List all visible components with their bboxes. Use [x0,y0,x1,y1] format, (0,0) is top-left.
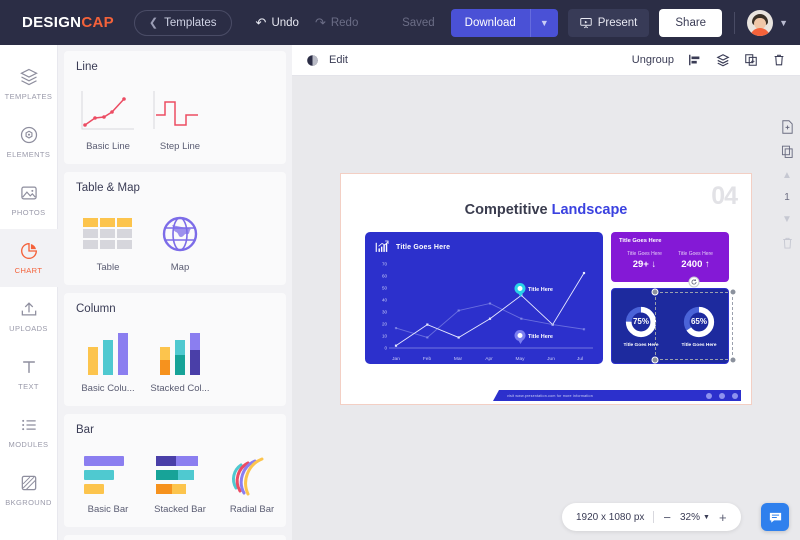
stat-number: 2400 [681,259,702,270]
chart-thumb-stacked-column[interactable]: Stacked Col... [148,325,212,394]
avatar [747,10,773,36]
slide-title: Competitive Landscape [341,202,751,218]
basic-line-art [76,83,140,135]
resize-handle-top-right[interactable] [730,289,737,296]
pin-dot [518,333,523,338]
stat-caption: Title Goes Here [670,251,721,257]
chart-thumb-caption: Map [148,262,212,273]
x-tick-label: Jun [547,357,555,362]
sidebar-item-label: CHART [15,266,43,275]
step-line-icon [150,85,210,135]
redo-button[interactable]: ↷ Redo [315,15,358,31]
stacked-column-art [148,325,212,377]
chart-pin-marker[interactable] [515,283,526,297]
stat-caption: Title Goes Here [619,251,670,257]
sidebar-item-templates[interactable]: TEMPLATES [0,55,58,113]
chart-thumb-map[interactable]: Map [148,204,212,273]
chart-thumb-caption: Basic Line [76,141,140,152]
logo-text-cap: CAP [81,14,114,31]
basic-bar-icon [80,448,136,498]
donut-chart: 75% [624,305,658,339]
chart-thumb-caption: Stacked Bar [148,504,212,515]
sidebar-item-label: UPLOADS [9,324,48,333]
trash-icon[interactable] [772,53,786,67]
donut-item: 75% Title Goes Here [623,305,658,348]
line-chart-plot: 70 60 50 40 30 20 10 0 [375,260,593,360]
y-tick-label: 20 [375,322,387,327]
chart-pin-label: Title Here [528,287,553,293]
donut-value: 65% [682,305,716,339]
stacked-bar-icon [152,448,208,498]
chart-thumb-caption: Radial Bar [220,504,284,515]
redo-icon: ↷ [315,15,326,31]
sidebar-item-elements[interactable]: ELEMENTS [0,113,58,171]
sidebar-item-label: PHOTOS [12,208,46,217]
zoom-level-select[interactable]: 32% ▼ [680,512,710,523]
zoom-out-button[interactable]: − [663,511,671,524]
sidebar-item-label: BKGROUND [5,498,52,507]
stacked-column-icon [152,327,208,377]
donut-caption: Title Goes Here [681,343,716,348]
chevron-left-icon: ❮ [149,16,158,29]
chart-thumb-table[interactable]: Table [76,204,140,273]
y-tick-label: 40 [375,298,387,303]
chevron-up-icon[interactable]: ▲ [782,170,792,181]
download-button[interactable]: Download [451,9,530,37]
chart-thumb-stacked-bar[interactable]: Stacked Bar [148,446,212,515]
canvas-toolbar-left: Edit [306,54,348,67]
undo-label: Undo [271,17,299,29]
undo-button[interactable]: ↶ Undo [256,15,299,31]
arrow-up-icon: ↑ [705,259,710,270]
app-logo[interactable]: DESIGNCAP [22,14,114,31]
panel-group-column: Column Basic Colu... [64,293,286,406]
chart-thumb-caption: Table [76,262,140,273]
saved-status: Saved [402,17,435,29]
stat-card[interactable]: Title Goes Here Title Goes Here 29+ ↓ Ti… [611,232,729,282]
present-label: Present [598,17,638,29]
stat-item: Title Goes Here 2400 ↑ [670,251,721,270]
sidebar-item-label: MODULES [9,440,49,449]
group-title: Line [76,61,274,73]
opacity-icon[interactable] [306,54,319,67]
chart-template-panel[interactable]: Line Basic Line [58,45,292,540]
stat-row: Title Goes Here 29+ ↓ Title Goes Here 24… [619,251,721,270]
table-icon [81,212,135,256]
step-line-art [148,83,212,135]
add-page-icon[interactable] [781,120,794,134]
sidebar-item-label: TEXT [18,382,39,391]
page-rail: ▲ 1 ▼ [774,120,800,250]
x-tick-label: Jan [392,357,400,362]
sidebar-item-text[interactable]: TEXT [0,345,58,403]
sidebar-item-chart[interactable]: CHART [0,229,58,287]
topbar-divider [734,12,735,34]
layers-icon [19,67,39,87]
y-tick-label: 50 [375,286,387,291]
chart-thumb-basic-column[interactable]: Basic Colu... [76,325,140,394]
bar-chart-up-icon [375,240,389,254]
sidebar-item-photos[interactable]: PHOTOS [0,171,58,229]
layers-icon[interactable] [716,53,730,67]
background-icon [19,473,39,493]
photo-icon [19,183,39,203]
avatar-face [754,18,766,29]
download-chevron-down-icon[interactable]: ▼ [530,9,558,37]
stat-value: 29+ ↓ [619,259,670,270]
donut-item: 65% Title Goes Here [681,305,716,348]
panel-group-pie: Pie [64,535,286,540]
x-tick-label: Apr [485,357,492,362]
x-tick-label: Mar [454,357,462,362]
gear-icon [19,125,39,145]
chart-thumb-radial-bar[interactable]: Radial Bar [220,446,284,515]
group-title: Bar [76,424,274,436]
chevron-down-icon[interactable]: ▼ [782,214,792,225]
delete-page-trash-icon[interactable] [781,236,794,250]
slide-footer-ribbon: visit www.presentation.com for more info… [493,390,741,401]
map-icon [158,212,202,256]
left-tool-rail: TEMPLATES ELEMENTS PHOTOS CHART [0,45,58,540]
panel-group-table-map: Table & Map Table [64,172,286,285]
donut-caption: Title Goes Here [623,343,658,348]
sidebar-item-label: TEMPLATES [5,92,53,101]
y-tick-label: 70 [375,262,387,267]
y-tick-label: 0 [375,346,387,351]
line-chart-svg [389,260,593,360]
avatar-body [750,28,770,36]
group-title: Column [76,303,274,315]
ungroup-button[interactable]: Ungroup [632,54,674,66]
chart-pin-label: Title Here [528,334,553,340]
zoombar-divider [653,511,654,523]
canvas-toolbar-right: Ungroup [632,53,786,67]
resize-handle-bottom-right[interactable] [730,357,737,364]
slide-title-main: Competitive [465,202,552,218]
line-chart-card[interactable]: Title Goes Here 70 60 50 40 30 20 10 0 [365,232,603,364]
panel-group-line: Line Basic Line [64,51,286,164]
templates-button[interactable]: ❮ Templates [134,10,232,36]
chevron-down-icon: ▼ [779,18,788,28]
stat-number: 29+ [633,259,649,270]
chart-thumb-basic-bar[interactable]: Basic Bar [76,446,140,515]
radial-bar-art [220,446,284,498]
basic-line-icon [78,85,138,135]
undo-icon: ↶ [256,15,267,31]
chart-thumb-caption: Basic Colu... [76,383,140,394]
stacked-bar-art [148,446,212,498]
line-chart-title: Title Goes Here [396,244,450,251]
zoom-level-value: 32% [680,512,700,523]
basic-column-art [76,325,140,377]
donut-card[interactable]: 75% Title Goes Here 65% Title Goes Here [611,288,729,364]
present-button[interactable]: Present [568,9,650,37]
chart-pin-marker[interactable] [515,330,526,344]
x-tick-label: May [515,357,524,362]
share-button[interactable]: Share [659,9,722,37]
edit-button[interactable]: Edit [329,54,348,66]
download-group: Download ▼ [451,9,558,37]
stat-value: 2400 ↑ [670,259,721,270]
chart-thumb-caption: Step Line [148,141,212,152]
pin-tip [517,339,523,344]
group-title: Table & Map [76,182,274,194]
slide-title-highlight: Landscape [552,202,628,218]
duplicate-icon[interactable] [744,53,758,67]
radial-bar-icon [226,448,278,498]
ribbon-text: visit www.presentation.com for more info… [507,394,702,398]
upload-icon [19,299,39,319]
x-tick-label: Jul [577,357,583,362]
chat-support-button[interactable] [761,503,789,531]
donut-value: 75% [624,305,658,339]
sidebar-item-bkground[interactable]: BKGROUND [0,461,58,519]
stat-item: Title Goes Here 29+ ↓ [619,251,670,270]
y-tick-label: 10 [375,334,387,339]
logo-text-design: DESIGN [22,14,81,31]
sidebar-item-label: ELEMENTS [7,150,51,159]
canvas-toolbar: Edit Ungroup [292,45,800,76]
facebook-icon[interactable] [706,393,712,399]
present-icon [580,17,592,29]
chat-icon [768,510,783,525]
chart-thumb-caption: Basic Bar [76,504,140,515]
history-controls: ↶ Undo ↷ Redo [256,15,359,31]
thumb-row: Basic Line Step Line [76,83,274,152]
designcap-editor: DESIGNCAP ❮ Templates ↶ Undo ↷ Redo Save… [0,0,800,540]
chart-thumb-basic-line[interactable]: Basic Line [76,83,140,152]
thumb-row: Basic Bar Stacked Bar [76,446,274,515]
thumb-row: Basic Colu... Stacked Col... [76,325,274,394]
sidebar-item-uploads[interactable]: UPLOADS [0,287,58,345]
chevron-down-icon: ▼ [703,514,710,521]
templates-button-label: Templates [164,17,216,29]
sidebar-item-modules[interactable]: MODULES [0,403,58,461]
align-left-icon[interactable] [688,53,702,67]
twitter-icon[interactable] [732,393,738,399]
pie-chart-icon [19,241,39,261]
canvas-size-label: 1920 x 1080 px [576,512,644,523]
arrow-down-icon: ↓ [652,259,657,270]
chart-thumb-caption: Stacked Col... [148,383,212,394]
current-page-number: 1 [784,192,790,203]
text-icon [19,357,39,377]
thumb-row: Table Map [76,204,274,273]
zoom-in-button[interactable]: + [719,511,727,524]
list-icon [19,415,39,435]
stat-card-header: Title Goes Here [619,238,721,244]
instagram-icon[interactable] [719,393,725,399]
top-bar: DESIGNCAP ❮ Templates ↶ Undo ↷ Redo Save… [0,0,800,45]
zoom-bar: 1920 x 1080 px − 32% ▼ + [562,503,741,531]
x-tick-label: Feb [423,357,431,362]
slide-page[interactable]: 04 Competitive Landscape Title [340,173,752,405]
basic-column-icon [80,327,136,377]
line-chart-header: Title Goes Here [375,240,593,254]
canvas-area[interactable]: 04 Competitive Landscape Title [292,76,800,540]
panel-group-bar: Bar Basic Bar [64,414,286,527]
map-art [148,204,212,256]
pin-tip [517,292,523,297]
y-tick-label: 60 [375,274,387,279]
y-tick-label: 30 [375,310,387,315]
donut-chart: 65% [682,305,716,339]
copy-page-icon[interactable] [781,145,794,159]
table-art [76,204,140,256]
chart-thumb-step-line[interactable]: Step Line [148,83,212,152]
account-menu[interactable]: ▼ [747,10,788,36]
basic-bar-art [76,446,140,498]
redo-label: Redo [331,17,359,29]
pin-dot [518,286,523,291]
